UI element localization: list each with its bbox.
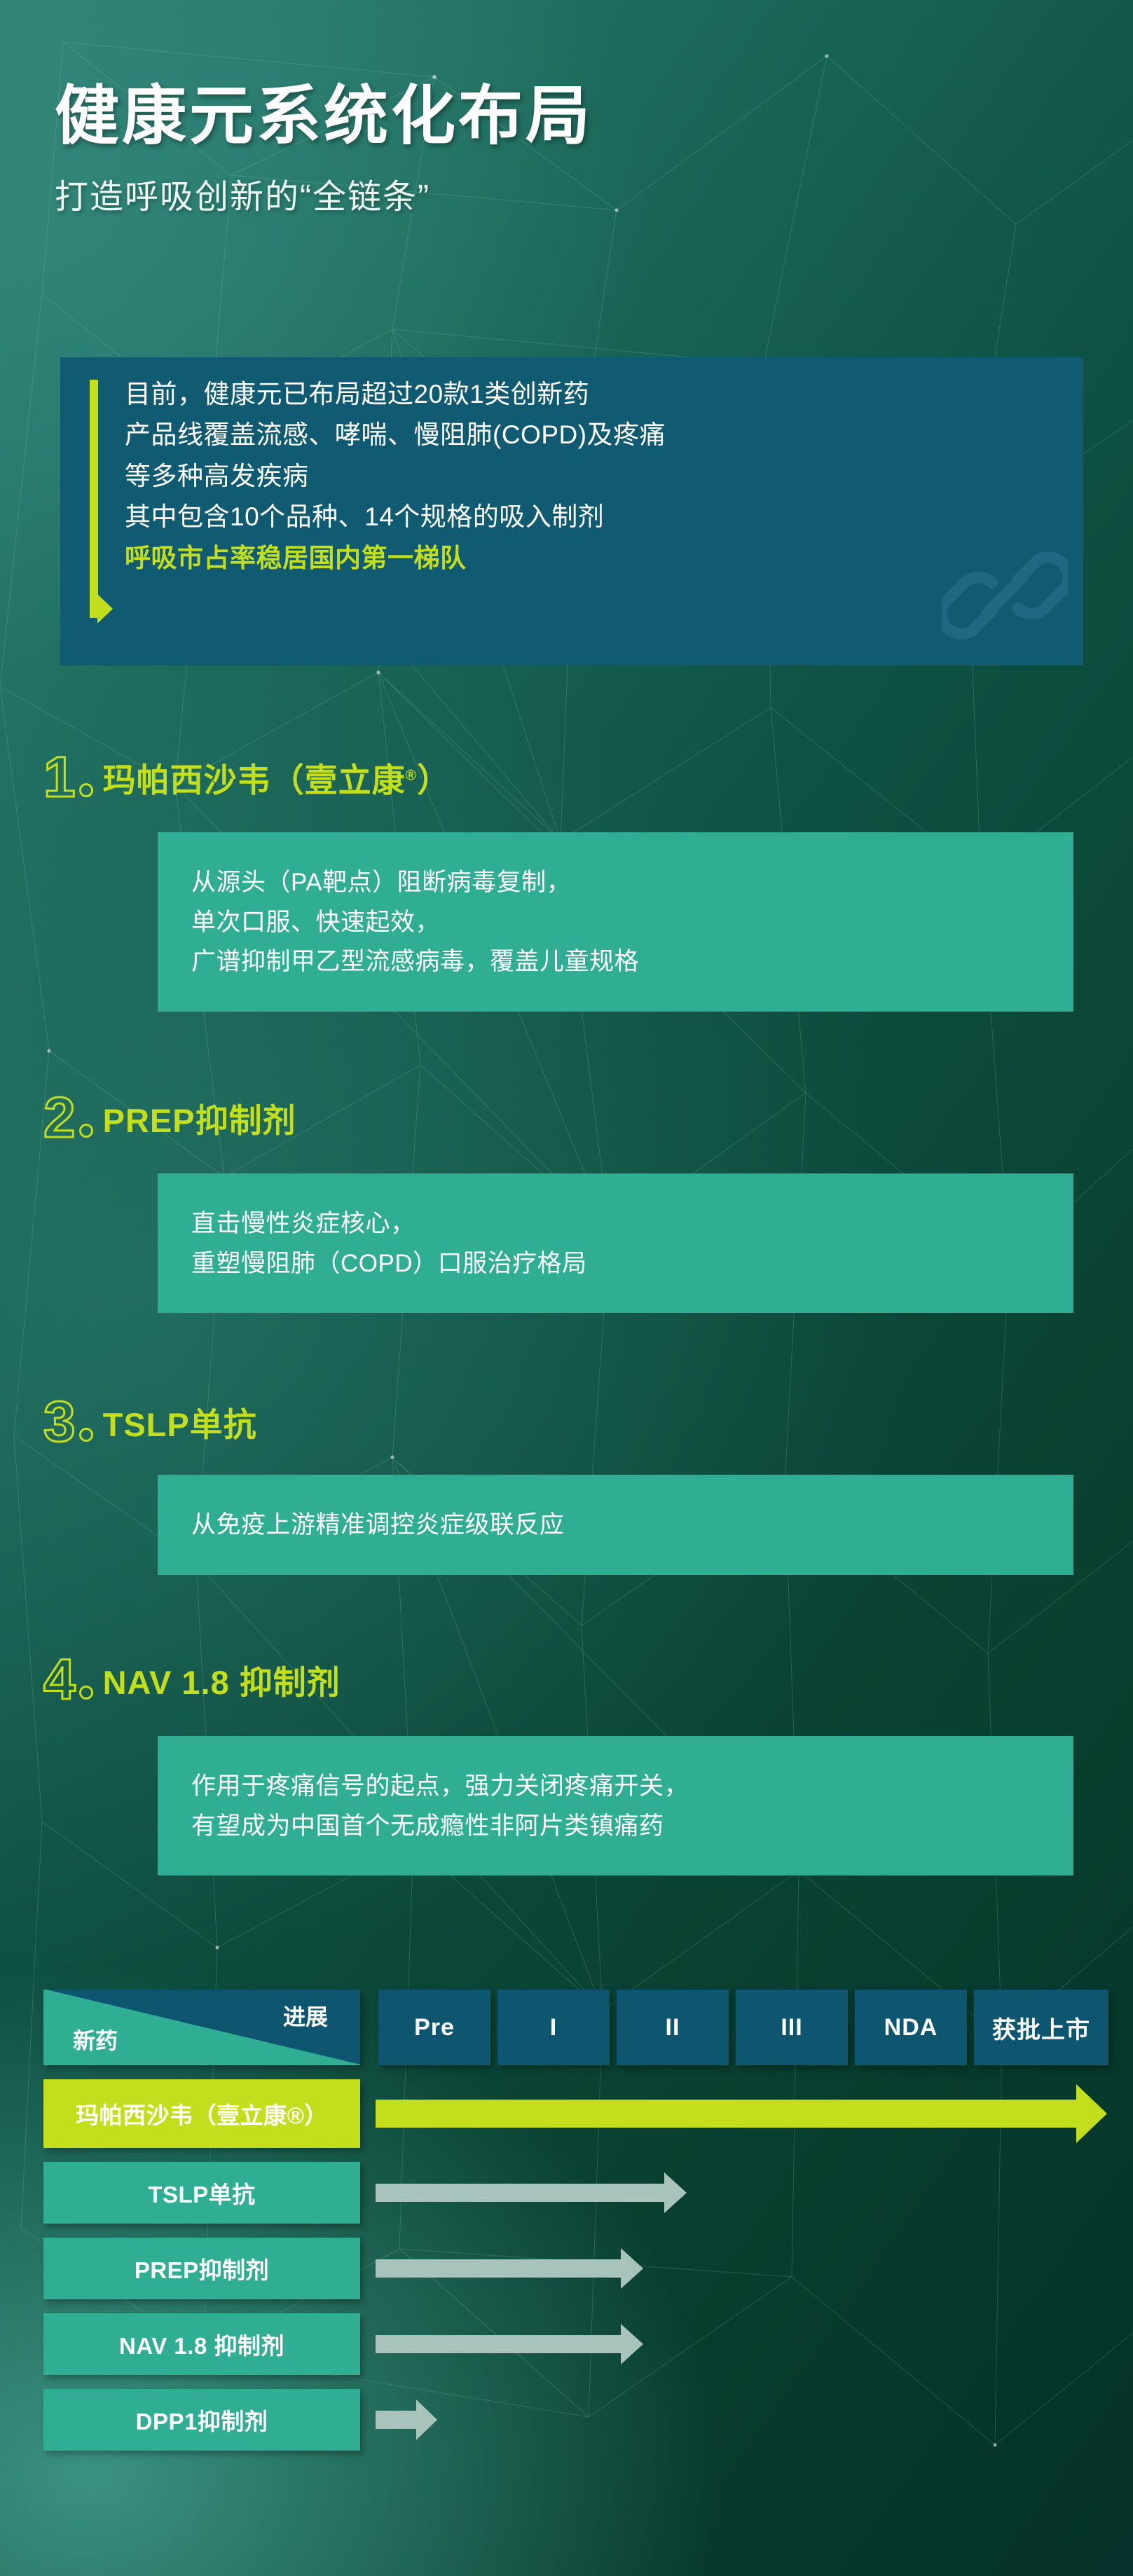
section-3-heading: 3 TSLP单抗 <box>43 1396 257 1448</box>
info-line: 其中包含10个品种、14个规格的吸入制剂 <box>125 497 1022 537</box>
corner-col-label: 进展 <box>283 1999 328 2032</box>
info-line: 等多种高发疾病 <box>125 456 1022 497</box>
arrow-head-icon <box>621 2324 643 2364</box>
summary-info-box: 目前，健康元已布局超过20款1类创新药 产品线覆盖流感、哮喘、慢阻肺(COPD)… <box>60 357 1083 666</box>
section-body-line: 广谱抑制甲乙型流感病毒，覆盖儿童规格 <box>191 942 1040 982</box>
arrow-head-icon <box>664 2172 687 2213</box>
section-body-line: 从源头（PA靶点）阻断病毒复制， <box>191 863 1040 903</box>
section-number-dot-icon <box>79 1124 93 1138</box>
section-body-line: 作用于疼痛信号的起点，强力关闭疼痛开关， <box>191 1767 1040 1807</box>
pipeline-stage-header-phase-1[interactable]: I <box>497 1990 610 2065</box>
pipeline-progress-arrow-prep <box>376 2248 643 2289</box>
arrow-head-icon <box>416 2399 437 2440</box>
section-number: 4 <box>43 1653 76 1706</box>
section-body-line: 重塑慢阻肺（COPD）口服治疗格局 <box>191 1244 1040 1284</box>
pipeline-stage-header-pre[interactable]: Pre <box>378 1990 490 2065</box>
section-3-body: 从免疫上游精准调控炎症级联反应 <box>158 1475 1073 1575</box>
section-title: TSLP单抗 <box>103 1398 257 1446</box>
pipeline-progress-arrow-mapaxishawei <box>376 2086 1107 2142</box>
section-title: PREP抑制剂 <box>103 1094 296 1142</box>
info-line: 目前，健康元已布局超过20款1类创新药 <box>125 374 1022 415</box>
arrow-bar <box>376 2411 416 2429</box>
info-line: 产品线覆盖流感、哮喘、慢阻肺(COPD)及疼痛 <box>125 415 1022 455</box>
section-1-body: 从源头（PA靶点）阻断病毒复制， 单次口服、快速起效， 广谱抑制甲乙型流感病毒，… <box>158 832 1073 1012</box>
pipeline-stage-header-nda[interactable]: NDA <box>855 1990 967 2065</box>
section-title: 玛帕西沙韦（壹立康®） <box>103 753 451 801</box>
accent-arrow-head <box>97 594 113 624</box>
infographic-poster: 健康元系统化布局 打造呼吸创新的“全链条” 目前，健康元已布局超过20款1类创新… <box>0 0 1133 2576</box>
section-2-heading: 2 PREP抑制剂 <box>43 1091 296 1144</box>
section-number: 3 <box>43 1396 76 1448</box>
section-body-line: 从免疫上游精准调控炎症级联反应 <box>191 1506 1040 1545</box>
pipeline-row-drug-prep[interactable]: PREP抑制剂 <box>43 2238 360 2299</box>
pipeline-table: 新药 进展 Pre I II III NDA 获批上市 玛帕西沙韦（壹立康®） … <box>0 1983 1133 2487</box>
corner-row-label: 新药 <box>73 2023 118 2055</box>
info-text-block: 目前，健康元已布局超过20款1类创新药 产品线覆盖流感、哮喘、慢阻肺(COPD)… <box>125 374 1022 579</box>
pipeline-progress-arrow-dpp1 <box>376 2399 437 2440</box>
section-body-line: 有望成为中国首个无成瘾性非阿片类镇痛药 <box>191 1807 1040 1847</box>
section-number: 1 <box>43 751 76 804</box>
info-highlight-line: 呼吸市占率稳居国内第一梯队 <box>125 538 1022 579</box>
section-4-body: 作用于疼痛信号的起点，强力关闭疼痛开关， 有望成为中国首个无成瘾性非阿片类镇痛药 <box>158 1736 1073 1875</box>
pipeline-progress-arrow-nav18 <box>376 2324 643 2364</box>
arrow-bar <box>376 2259 621 2278</box>
section-2-body: 直击慢性炎症核心， 重塑慢阻肺（COPD）口服治疗格局 <box>158 1173 1073 1313</box>
section-number: 2 <box>43 1091 76 1144</box>
section-number-dot-icon <box>79 1428 93 1442</box>
pipeline-progress-arrow-tslp <box>376 2172 687 2213</box>
section-title: NAV 1.8 抑制剂 <box>103 1655 341 1704</box>
section-body-line: 直击慢性炎症核心， <box>191 1204 1040 1244</box>
pipeline-stage-header-phase-2[interactable]: II <box>617 1990 729 2065</box>
accent-vertical-bar <box>90 380 98 618</box>
arrow-bar <box>376 2100 1076 2128</box>
section-number-dot-icon <box>79 783 93 797</box>
pipeline-corner-cell: 新药 进展 <box>43 1990 360 2065</box>
poster-header: 健康元系统化布局 打造呼吸创新的“全链条” <box>55 83 966 218</box>
section-number-dot-icon <box>79 1686 93 1700</box>
arrow-bar <box>376 2335 621 2353</box>
arrow-head-icon <box>1076 2084 1107 2143</box>
pipeline-stage-header-phase-3[interactable]: III <box>736 1990 848 2065</box>
pipeline-row-drug-dpp1[interactable]: DPP1抑制剂 <box>43 2389 360 2451</box>
section-body-line: 单次口服、快速起效， <box>191 903 1040 943</box>
arrow-head-icon <box>621 2248 643 2289</box>
page-title: 健康元系统化布局 <box>55 83 966 151</box>
pipeline-row-drug-mapaxishawei[interactable]: 玛帕西沙韦（壹立康®） <box>43 2079 360 2148</box>
page-subtitle: 打造呼吸创新的“全链条” <box>55 169 966 218</box>
section-4-heading: 4 NAV 1.8 抑制剂 <box>43 1653 341 1706</box>
pipeline-row-drug-tslp[interactable]: TSLP单抗 <box>43 2162 360 2224</box>
section-1-heading: 1 玛帕西沙韦（壹立康®） <box>43 751 451 804</box>
pipeline-stage-header-approved[interactable]: 获批上市 <box>974 1990 1108 2065</box>
arrow-bar <box>376 2184 664 2202</box>
pipeline-row-drug-nav18[interactable]: NAV 1.8 抑制剂 <box>43 2313 360 2375</box>
